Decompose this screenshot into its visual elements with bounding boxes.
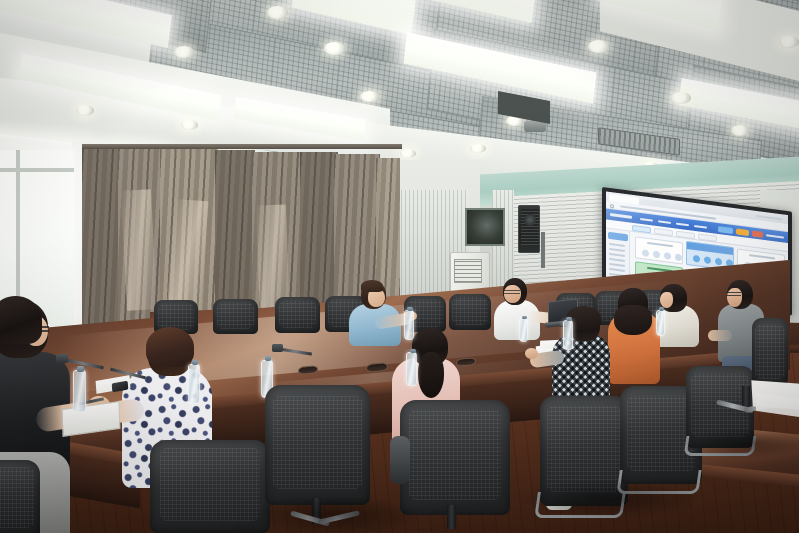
nav-menu-item[interactable] [658, 220, 671, 224]
status-chip[interactable] [693, 255, 700, 263]
status-chip[interactable] [675, 253, 682, 261]
recessed-downlight [400, 149, 416, 158]
sidebar-item[interactable] [609, 258, 625, 262]
sidebar-item[interactable] [609, 263, 625, 267]
recessed-downlight [324, 42, 345, 55]
chair-armrest[interactable] [390, 436, 410, 484]
recessed-downlight [76, 105, 94, 116]
ponytail [418, 352, 444, 398]
water-bottle[interactable] [563, 320, 573, 350]
nav-badge-accent[interactable] [752, 230, 763, 237]
status-chip[interactable] [653, 251, 660, 259]
nav-brand [610, 213, 632, 219]
bottle-cap [522, 316, 527, 319]
conference-microphone[interactable] [56, 354, 68, 363]
speaker-driver [524, 214, 536, 226]
hair [146, 327, 194, 367]
status-chip[interactable] [715, 258, 722, 266]
bottle-cap [77, 366, 84, 372]
nav-menu-item[interactable] [676, 222, 689, 226]
bottle-cap [192, 360, 198, 365]
recessed-downlight [360, 91, 379, 102]
floor-shadow [250, 495, 420, 533]
bottle-cap [659, 307, 664, 311]
chair-far[interactable] [275, 297, 320, 333]
nav-user-label[interactable] [766, 234, 784, 238]
water-bottle[interactable] [188, 364, 200, 404]
app-tab-active[interactable] [632, 224, 651, 232]
chair-far[interactable] [449, 294, 491, 330]
wall-speaker [518, 205, 540, 253]
curtain-highlight [121, 189, 157, 310]
hand [525, 348, 538, 359]
glasses [726, 292, 741, 296]
sidebar-item[interactable] [609, 268, 625, 272]
conference-microphone[interactable] [272, 344, 283, 352]
sidebar-item[interactable] [609, 248, 625, 252]
face [727, 288, 742, 307]
bottle-cap [265, 356, 271, 361]
conference-room-photo: Interior photograph of a corporate meeti… [0, 0, 799, 533]
app-tab[interactable] [698, 233, 717, 241]
sidebar-item-active[interactable] [608, 232, 628, 242]
status-chip[interactable] [642, 249, 649, 257]
sidebar-item[interactable] [609, 253, 625, 257]
status-chip[interactable] [704, 256, 711, 264]
water-bottle[interactable] [519, 318, 528, 342]
chair-right-end[interactable] [752, 318, 788, 388]
sidebar-item[interactable] [609, 243, 625, 247]
water-bottle[interactable] [406, 352, 417, 386]
water-bottle[interactable] [656, 310, 665, 336]
nav-menu-item[interactable] [694, 224, 707, 228]
floor-shadow [520, 480, 700, 518]
arm [708, 330, 732, 341]
glasses [503, 290, 520, 294]
dashboard-card[interactable] [635, 236, 683, 264]
bottle-cap [407, 307, 413, 311]
recessed-downlight [174, 46, 194, 58]
bottle-cap [566, 317, 572, 321]
card-title [749, 254, 775, 259]
speaker-bracket [541, 232, 545, 268]
floor-shadow [680, 428, 799, 458]
recessed-downlight [470, 144, 486, 153]
face [504, 285, 521, 303]
reload-icon[interactable] [610, 204, 614, 209]
nav-badge-alert[interactable] [736, 228, 749, 236]
nav-menu-item[interactable] [640, 217, 653, 221]
bottle-cap [410, 349, 416, 353]
recessed-downlight [181, 120, 198, 130]
chair-near[interactable] [265, 385, 370, 505]
air-conditioner-grill [454, 259, 482, 283]
chair-far[interactable] [213, 299, 258, 334]
app-tab[interactable] [654, 227, 673, 235]
recessed-downlight [671, 92, 691, 104]
curtain-rod [82, 144, 402, 149]
framed-artwork [465, 208, 505, 246]
water-bottle[interactable] [73, 370, 86, 412]
recessed-downlight [731, 125, 749, 136]
hair [361, 280, 383, 292]
nav-badge[interactable] [718, 226, 733, 234]
recessed-downlight [267, 6, 288, 19]
app-tab[interactable] [676, 230, 695, 238]
face [660, 292, 673, 308]
card-title [647, 242, 673, 247]
chair-gas-lift [447, 505, 456, 529]
water-bottle[interactable] [404, 310, 414, 340]
recessed-downlight [779, 36, 799, 48]
chair-foreground-left[interactable] [0, 460, 40, 533]
hair-long [614, 305, 652, 335]
window-transom [0, 168, 74, 172]
recessed-downlight [588, 40, 609, 53]
status-chip[interactable] [664, 252, 671, 260]
